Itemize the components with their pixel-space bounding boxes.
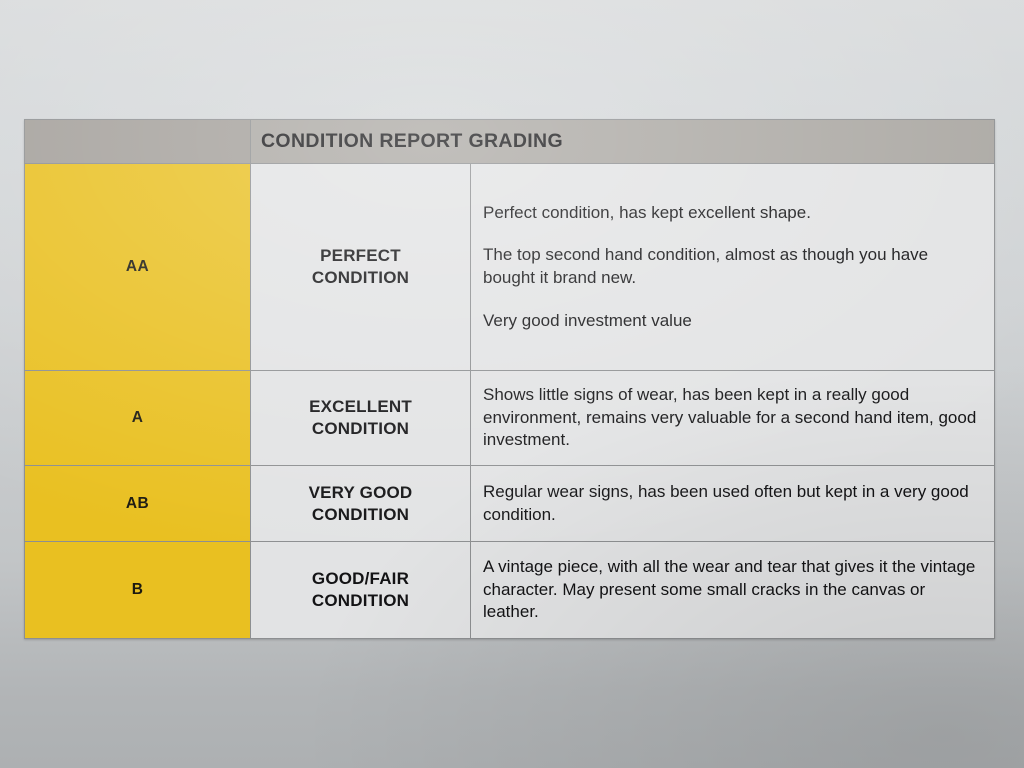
page-title: CONDITION REPORT GRADING (251, 120, 995, 164)
condition-label-line1: EXCELLENT (257, 396, 464, 418)
condition-description-aa: Perfect condition, has kept excellent sh… (471, 164, 995, 371)
description-paragraph: A vintage piece, with all the wear and t… (483, 556, 980, 624)
table-row: A EXCELLENT CONDITION Shows little signs… (25, 371, 995, 466)
condition-description-a: Shows little signs of wear, has been kep… (471, 371, 995, 466)
table-header: CONDITION REPORT GRADING (25, 120, 995, 164)
condition-label-ab: VERY GOOD CONDITION (251, 466, 471, 542)
grade-badge-b: B (25, 542, 251, 639)
condition-label-line1: PERFECT (257, 245, 464, 267)
condition-label-line2: CONDITION (257, 590, 464, 612)
table-row: B GOOD/FAIR CONDITION A vintage piece, w… (25, 542, 995, 639)
condition-label-line1: GOOD/FAIR (257, 568, 464, 590)
condition-label-line1: VERY GOOD (257, 482, 464, 504)
condition-description-ab: Regular wear signs, has been used often … (471, 466, 995, 542)
table-row: AA PERFECT CONDITION Perfect condition, … (25, 164, 995, 371)
condition-report-grading-table: CONDITION REPORT GRADING AA PERFECT COND… (24, 119, 995, 639)
condition-label-aa: PERFECT CONDITION (251, 164, 471, 371)
grade-badge-aa: AA (25, 164, 251, 371)
document-photo-canvas: CONDITION REPORT GRADING AA PERFECT COND… (0, 0, 1024, 768)
description-paragraph: Very good investment value (483, 310, 980, 333)
table-title-row: CONDITION REPORT GRADING (25, 120, 995, 164)
table-row: AB VERY GOOD CONDITION Regular wear sign… (25, 466, 995, 542)
condition-label-a: EXCELLENT CONDITION (251, 371, 471, 466)
condition-label-line2: CONDITION (257, 418, 464, 440)
table-body: AA PERFECT CONDITION Perfect condition, … (25, 164, 995, 639)
grade-badge-ab: AB (25, 466, 251, 542)
condition-label-line2: CONDITION (257, 267, 464, 289)
condition-label-line2: CONDITION (257, 504, 464, 526)
description-paragraph: Shows little signs of wear, has been kep… (483, 384, 980, 452)
description-paragraph: The top second hand condition, almost as… (483, 244, 980, 289)
description-paragraph: Perfect condition, has kept excellent sh… (483, 202, 980, 225)
condition-label-b: GOOD/FAIR CONDITION (251, 542, 471, 639)
condition-description-b: A vintage piece, with all the wear and t… (471, 542, 995, 639)
table-title-band-left (25, 120, 251, 164)
description-paragraph: Regular wear signs, has been used often … (483, 481, 980, 526)
grade-badge-a: A (25, 371, 251, 466)
